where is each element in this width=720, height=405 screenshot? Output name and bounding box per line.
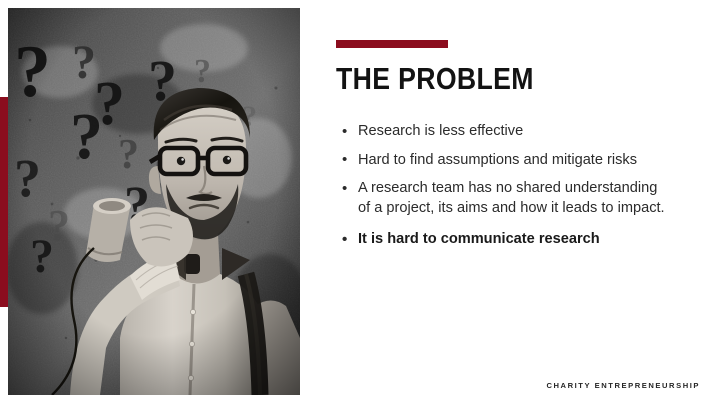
bullet-text: Hard to find assumptions and mitigate ri…: [358, 152, 637, 168]
slide-content: THE PROBLEM Research is less effective H…: [336, 0, 710, 405]
bullet-text: Research is less effective: [358, 123, 523, 139]
list-item: Hard to find assumptions and mitigate ri…: [341, 151, 671, 171]
list-item-emphasised: It is hard to communicate research: [341, 230, 671, 250]
list-item: Research is less effective: [341, 122, 671, 142]
slide-photo: ? ? ? ? ? ? ? ? ? ? ? ? ? ? ?: [8, 8, 300, 395]
presentation-slide: ? ? ? ? ? ? ? ? ? ? ? ? ? ? ?: [0, 0, 720, 405]
page-title: THE PROBLEM: [336, 62, 534, 96]
problem-bullet-list: Research is less effective Hard to find …: [341, 122, 671, 259]
brand-footer: CHARITY ENTREPRENEURSHIP: [546, 381, 700, 390]
bullet-text: A research team has no shared understand…: [358, 180, 665, 216]
photo-illustration: ? ? ? ? ? ? ? ? ? ? ? ? ? ? ?: [8, 8, 300, 395]
title-accent-rule: [336, 40, 448, 48]
bullet-text: It is hard to communicate research: [358, 231, 600, 247]
list-item: A research team has no shared understand…: [341, 179, 671, 218]
